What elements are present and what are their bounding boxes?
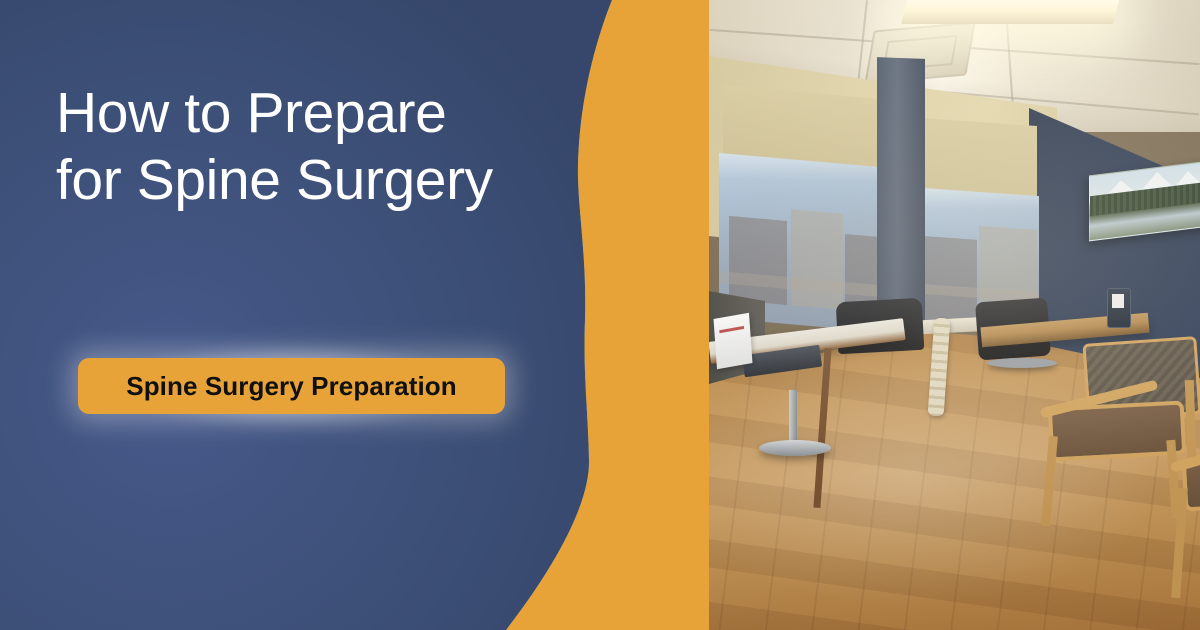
paper-document: [714, 313, 753, 369]
hand-sanitizer-dispenser: [1107, 288, 1131, 328]
stool-pole: [789, 390, 797, 444]
cta-container: Spine Surgery Preparation: [78, 358, 505, 414]
photo-scene: [709, 0, 1200, 630]
building-outside: [729, 216, 787, 305]
window-shade: [921, 118, 1037, 198]
wall-artwork: [1089, 161, 1200, 242]
chair-leg: [1171, 488, 1188, 598]
spine-surgery-preparation-button[interactable]: Spine Surgery Preparation: [78, 358, 505, 414]
ceiling-light-icon: [901, 0, 1121, 24]
chair-leg: [1041, 436, 1058, 526]
stool-base: [759, 440, 831, 456]
banner-content: How to Prepare for Spine Surgery Spine S…: [0, 0, 709, 630]
page-title: How to Prepare for Spine Surgery: [56, 80, 576, 213]
guest-chair: [1169, 400, 1200, 630]
clinic-room-photo: [709, 0, 1200, 630]
blog-header-banner: How to Prepare for Spine Surgery Spine S…: [0, 0, 1200, 630]
building-outside: [791, 209, 843, 310]
